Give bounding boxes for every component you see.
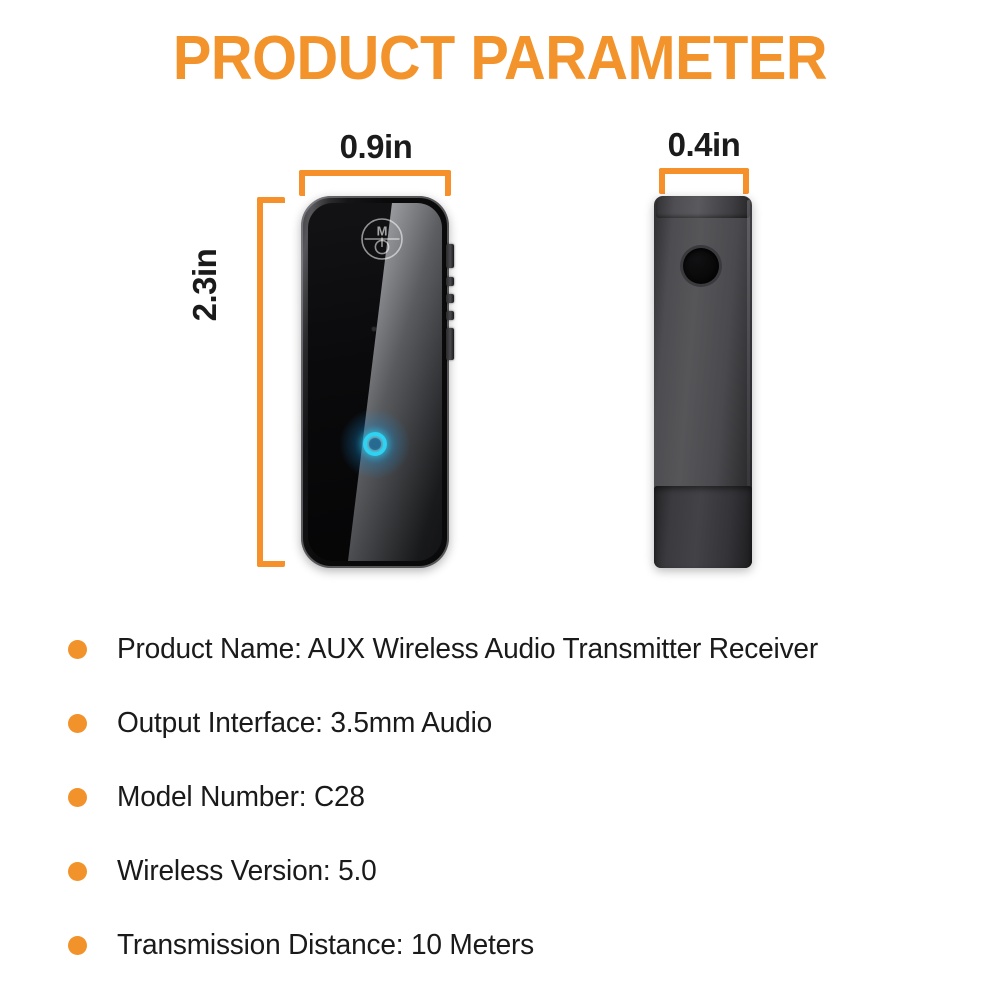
led-indicator — [356, 425, 394, 463]
bullet-dot-icon — [68, 640, 87, 659]
svg-text:M: M — [377, 224, 388, 239]
dimension-bracket-front-height — [257, 197, 285, 567]
device-side-top-cap — [656, 196, 750, 218]
mode-power-button-icon: M — [359, 216, 405, 262]
bullet-dot-icon — [68, 862, 87, 881]
device-side-view — [654, 196, 752, 568]
side-control-buttons — [446, 244, 454, 360]
list-item: Output Interface: 3.5mm Audio — [68, 686, 968, 760]
spec-text: Model Number: C28 — [117, 781, 365, 814]
dimension-label-side-width: 0.4in — [648, 126, 760, 164]
audio-jack-port — [683, 248, 719, 284]
spec-list: Product Name: AUX Wireless Audio Transmi… — [68, 612, 968, 982]
spec-text: Transmission Distance: 10 Meters — [117, 929, 534, 962]
bullet-dot-icon — [68, 936, 87, 955]
product-illustration: 0.9in 0.4in 2.3in M — [0, 0, 1000, 600]
dimension-label-front-width: 0.9in — [298, 128, 454, 166]
microphone-pinhole — [372, 327, 376, 331]
bullet-dot-icon — [68, 714, 87, 733]
spec-text: Output Interface: 3.5mm Audio — [117, 707, 492, 740]
list-item: Wireless Version: 5.0 — [68, 834, 968, 908]
list-item: Product Name: AUX Wireless Audio Transmi… — [68, 612, 968, 686]
device-front-view: M — [301, 196, 449, 568]
list-item: Transmission Distance: 10 Meters — [68, 908, 968, 982]
spec-text: Wireless Version: 5.0 — [117, 855, 377, 888]
device-clip — [654, 486, 752, 568]
spec-text: Product Name: AUX Wireless Audio Transmi… — [117, 633, 818, 666]
dimension-label-front-height: 2.3in — [186, 225, 224, 345]
bullet-dot-icon — [68, 788, 87, 807]
dimension-bracket-front-width — [299, 170, 451, 196]
list-item: Model Number: C28 — [68, 760, 968, 834]
dimension-bracket-side-width — [659, 168, 749, 194]
